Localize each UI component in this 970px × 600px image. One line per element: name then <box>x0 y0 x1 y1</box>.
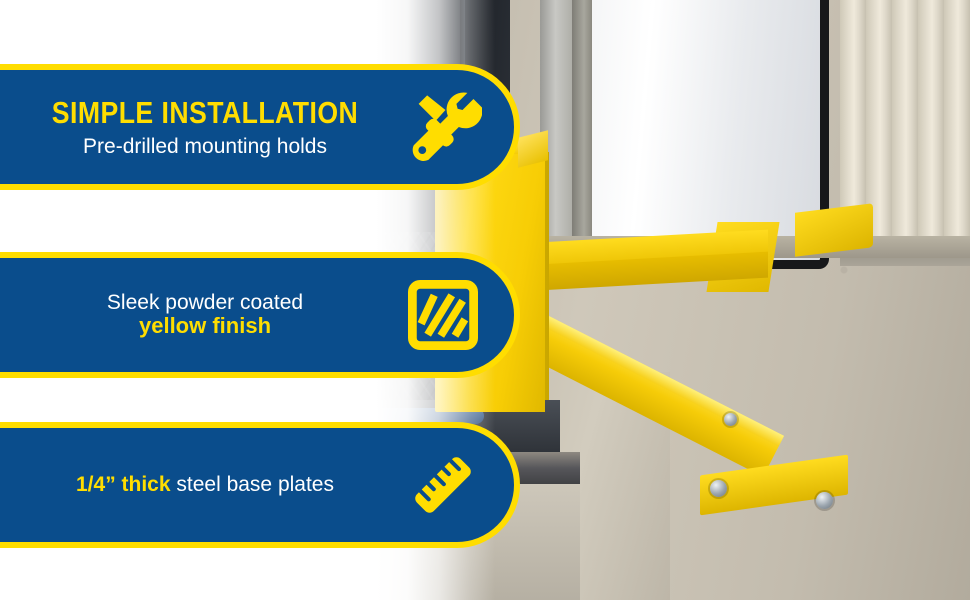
banner-text-block: 1/4” thick steel base plates <box>26 473 390 497</box>
banner-line-1: 1/4” thick steel base plates <box>26 473 384 497</box>
anchor-bolt <box>816 492 833 509</box>
feature-banner-base-plates: 1/4” thick steel base plates <box>0 422 520 548</box>
banner-text-block: Sleek powder coated yellow finish <box>26 291 390 339</box>
anchor-bolt <box>710 480 727 497</box>
banner-line-1: Sleek powder coated <box>26 291 384 315</box>
banner-subline: Pre-drilled mounting holds <box>26 135 384 159</box>
white-door-panel <box>588 0 829 269</box>
banner-line-2: yellow finish <box>26 314 384 339</box>
feature-banner-powder-coated: Sleek powder coated yellow finish <box>0 252 520 378</box>
banner-emphasis: 1/4” thick <box>76 473 171 496</box>
anchor-bolt <box>724 413 737 426</box>
banner-rest: steel base plates <box>171 473 334 496</box>
banner-headline: SIMPLE INSTALLATION <box>51 96 359 131</box>
door-jamb-inner <box>572 0 592 260</box>
ruler-icon <box>400 442 486 528</box>
feature-banner-simple-installation: SIMPLE INSTALLATION Pre-drilled mounting… <box>0 64 520 190</box>
product-feature-infographic: SIMPLE INSTALLATION Pre-drilled mounting… <box>0 0 970 600</box>
hatched-square-finish-icon <box>400 272 486 358</box>
tools-screwdriver-wrench-icon <box>400 84 486 170</box>
banner-text-block: SIMPLE INSTALLATION Pre-drilled mounting… <box>26 96 390 158</box>
